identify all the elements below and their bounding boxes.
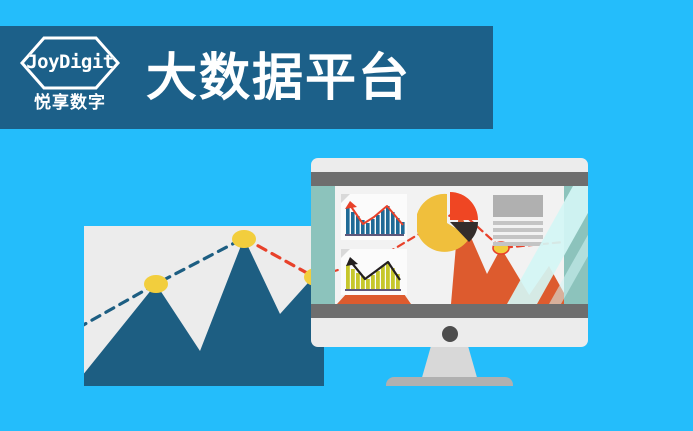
blue-bar-chart-svg — [341, 194, 407, 240]
table-row — [493, 228, 543, 232]
poster-canvas: JoyDigit 悦享数字 大数据平台 — [0, 0, 693, 431]
brand-logo: JoyDigit 悦享数字 — [14, 35, 126, 121]
monitor-stand-neck — [421, 347, 478, 381]
table-row — [493, 221, 543, 225]
hexagon-icon: JoyDigit — [18, 35, 122, 91]
screen-accent-band-left — [311, 186, 335, 304]
dashboard-content — [335, 186, 564, 304]
data-point-marker — [232, 230, 256, 248]
mountain-trend-panel — [84, 226, 324, 386]
mountain-shape-orange-right — [523, 266, 564, 304]
card-fold-corner — [341, 249, 350, 258]
olive-chart-arrow-head — [346, 257, 358, 266]
report-table-block — [493, 195, 543, 246]
olive-bar-chart-svg — [341, 249, 407, 295]
monitor-bottom-bezel — [311, 304, 588, 318]
data-point-marker — [144, 275, 168, 293]
table-row — [493, 242, 543, 246]
card-fold-corner — [341, 194, 350, 203]
page-title: 大数据平台 — [146, 52, 411, 103]
monitor-screen — [311, 186, 588, 304]
screen-accent-band-right — [564, 186, 588, 304]
blue-bar-chart-card — [341, 194, 407, 240]
header-banner: JoyDigit 悦享数字 大数据平台 — [0, 26, 493, 129]
monitor-top-bezel — [311, 172, 588, 186]
blue-bars — [346, 206, 405, 234]
table-header-bar — [493, 195, 543, 217]
table-row — [493, 235, 543, 239]
olive-bar-chart-card — [341, 249, 407, 295]
left-area-chart-svg — [84, 226, 324, 386]
logo-english-text: JoyDigit — [26, 53, 114, 72]
desktop-monitor — [311, 158, 588, 390]
power-button-icon[interactable] — [442, 326, 458, 342]
pie-chart — [417, 192, 479, 254]
bottom-background-band — [0, 386, 693, 431]
logo-chinese-text: 悦享数字 — [34, 94, 106, 111]
pie-slice-red — [450, 192, 478, 220]
